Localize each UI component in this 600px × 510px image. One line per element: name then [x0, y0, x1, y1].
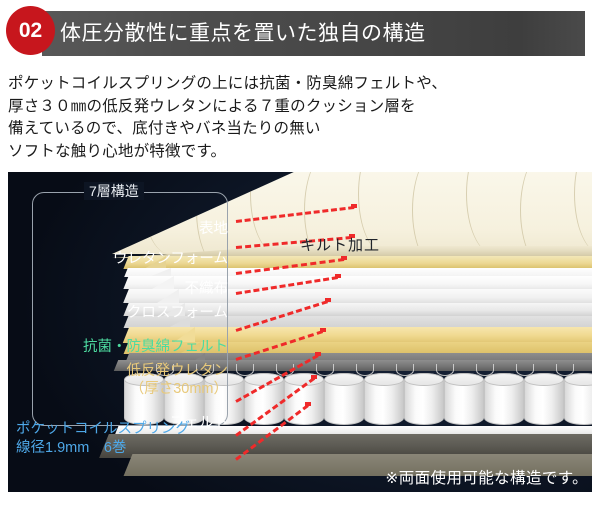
coil-spring-label-line-1: ポケットコイルスプリング — [16, 420, 226, 439]
intro-line-1: ポケットコイルスプリングの上には抗菌・防臭綿フェルトや、 — [8, 73, 588, 96]
coil-spring-label: ポケットコイルスプリング 線径1.9mm 6巻 — [16, 420, 226, 458]
quilt-stitch-line — [466, 172, 521, 254]
coil-connector-wire — [476, 364, 494, 376]
quilt-stitch-line — [574, 172, 592, 254]
pocket-coil — [524, 373, 564, 425]
leader-endpoint-marker — [341, 256, 347, 260]
leader-endpoint-marker — [320, 328, 326, 332]
layer-label: 抗菌・防臭綿フェルト — [83, 338, 228, 356]
coil-connector-wire — [236, 364, 254, 376]
quilt-process-caption: キルト加工 — [300, 234, 380, 255]
layer-label: 低反発ウレタン — [127, 362, 229, 380]
pocket-coil — [444, 373, 484, 425]
pocket-coil — [484, 373, 524, 425]
mattress-cross-section-diagram: 7層構造 表地ウレタンフォーム不織布クロスフォーム抗菌・防臭綿フェルト低反発ウレ… — [8, 172, 592, 492]
pocket-coil — [364, 373, 404, 425]
pocket-coil — [244, 373, 284, 425]
coil-connector-wire — [436, 364, 454, 376]
coil-connector-wire — [516, 364, 534, 376]
layer-label: ウレタンフォーム — [113, 250, 228, 268]
pocket-coil — [404, 373, 444, 425]
intro-line-4: ソフトな触り心地が特徴です。 — [8, 141, 588, 164]
coil-connector-wire — [396, 364, 414, 376]
pocket-coil — [324, 373, 364, 425]
leader-endpoint-marker — [311, 375, 317, 379]
reversible-structure-note: ※両面使用可能な構造です。 — [385, 466, 588, 488]
layer-label: 不織布 — [185, 280, 229, 298]
leader-endpoint-marker — [305, 402, 311, 406]
layer-label: 表地 — [199, 220, 228, 238]
coil-connector-wire — [316, 364, 334, 376]
section-number-badge: 02 — [6, 6, 55, 55]
coil-spring-label-line-2: 線径1.9mm 6巻 — [16, 439, 226, 458]
page-title: 体圧分散性に重点を置いた独自の構造 — [60, 17, 426, 47]
leader-endpoint-marker — [335, 274, 341, 278]
leader-endpoint-marker — [315, 352, 321, 356]
intro-line-2: 厚さ３０㎜の低反発ウレタンによる７重のクッション層を — [8, 96, 588, 119]
layer-label: （厚さ30mm） — [130, 380, 228, 398]
section-header: 02 体圧分散性に重点を置いた独自の構造 — [0, 0, 600, 68]
pocket-coil — [564, 373, 592, 425]
leader-endpoint-marker — [325, 298, 331, 302]
coil-connector-wire — [556, 364, 574, 376]
intro-paragraph: ポケットコイルスプリングの上には抗菌・防臭綿フェルトや、 厚さ３０㎜の低反発ウレ… — [8, 73, 588, 163]
coil-connector-wire — [356, 364, 374, 376]
leader-endpoint-marker — [351, 204, 357, 208]
layer-label: クロスフォーム — [127, 304, 228, 322]
intro-line-3: 備えているので、底付きやバネ当たりの無い — [8, 118, 588, 141]
